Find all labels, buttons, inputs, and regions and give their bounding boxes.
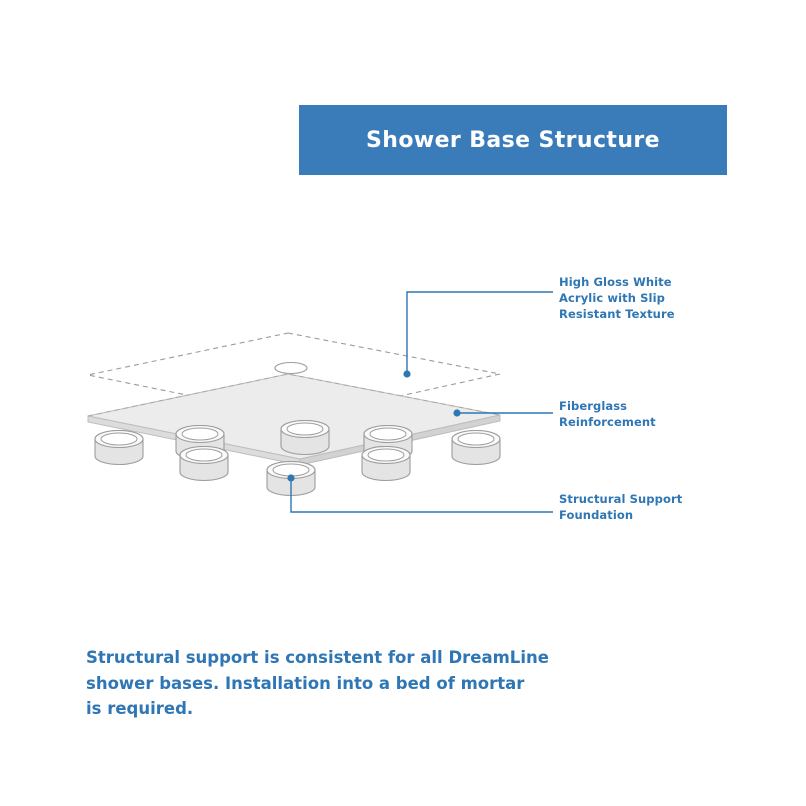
support-ring [281, 421, 329, 455]
callout-label-acrylic: High Gloss White Acrylic with Slip Resis… [559, 275, 749, 323]
support-ring [452, 431, 500, 465]
leader-dot-acrylic [403, 370, 410, 377]
leader-line-support [291, 478, 553, 512]
leader-line-acrylic [407, 292, 553, 374]
support-ring [180, 447, 228, 481]
caption-text: Structural support is consistent for all… [86, 645, 566, 722]
leader-dot-support [287, 474, 294, 481]
support-ring [362, 447, 410, 481]
support-ring [95, 431, 143, 465]
diagram-canvas: Shower Base Structure [0, 0, 806, 806]
leader-dot-fiberglass [453, 409, 460, 416]
callout-label-fiberglass: Fiberglass Reinforcement [559, 399, 749, 431]
drain-opening-icon [275, 363, 307, 374]
callout-label-support: Structural Support Foundation [559, 492, 749, 524]
